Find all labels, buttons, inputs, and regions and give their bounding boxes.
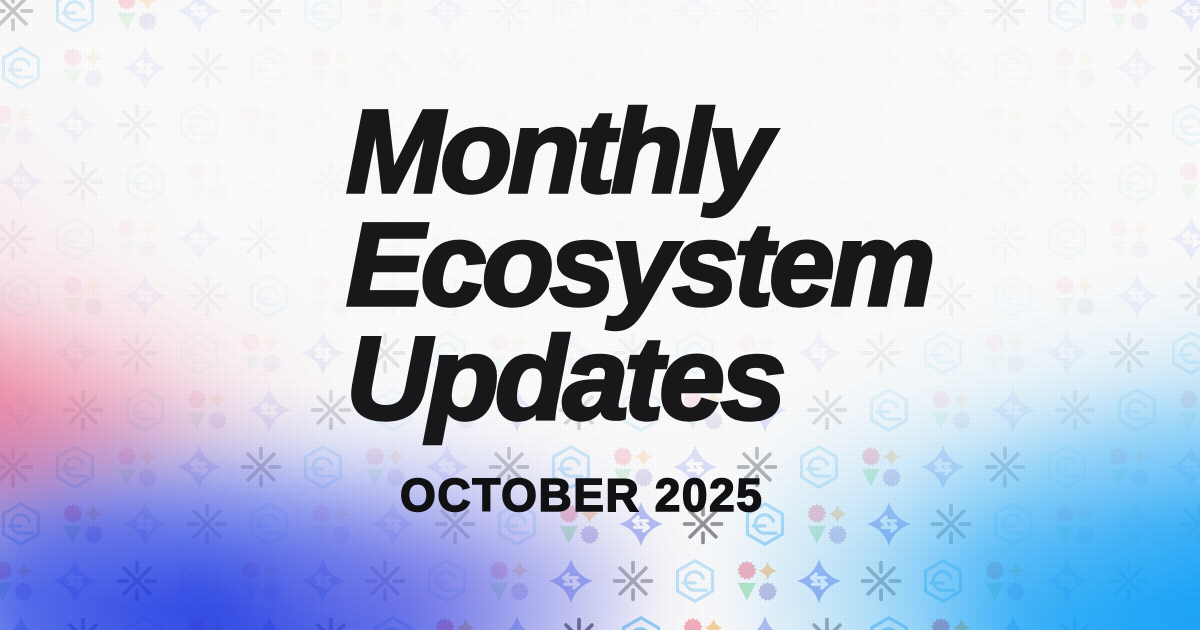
swap-diamond-icon	[494, 615, 540, 630]
swap-diamond-icon	[990, 615, 1036, 630]
swap-diamond-icon	[796, 558, 842, 604]
shape-cluster-icon	[928, 615, 974, 630]
asterisk-icon	[734, 0, 780, 34]
asterisk-icon	[486, 0, 532, 34]
hexagon-swirl-icon	[52, 0, 98, 34]
asterisk-icon	[238, 216, 284, 262]
hexagon-swirl-icon	[1044, 444, 1090, 490]
shape-cluster-icon	[1106, 0, 1152, 34]
hexagon-swirl-icon	[122, 159, 168, 205]
swap-diamond-icon	[424, 0, 470, 34]
swap-diamond-icon	[246, 159, 292, 205]
asterisk-icon	[804, 615, 850, 630]
swap-diamond-icon	[122, 273, 168, 319]
asterisk-icon	[0, 444, 36, 490]
shape-cluster-icon	[680, 615, 726, 630]
hexagon-swirl-icon	[1044, 0, 1090, 34]
swap-diamond-icon	[176, 0, 222, 34]
social-card: Monthly Ecosystem Updates OCTOBER 2025	[0, 0, 1200, 630]
hexagon-swirl-icon	[122, 615, 168, 630]
asterisk-icon	[982, 0, 1028, 34]
swap-diamond-icon	[672, 0, 718, 34]
shape-cluster-icon	[238, 330, 284, 376]
asterisk-icon	[1176, 45, 1200, 91]
swap-diamond-icon	[52, 102, 98, 148]
swap-diamond-icon	[920, 444, 966, 490]
hexagon-swirl-icon	[300, 444, 346, 490]
shape-cluster-icon	[1176, 159, 1200, 205]
asterisk-icon	[308, 615, 354, 630]
swap-diamond-icon	[300, 558, 346, 604]
hexagon-swirl-icon	[122, 387, 168, 433]
asterisk-icon	[60, 159, 106, 205]
swap-diamond-icon	[548, 558, 594, 604]
asterisk-icon	[0, 0, 36, 34]
swap-diamond-icon	[1044, 558, 1090, 604]
subtitle-date: OCTOBER 2025	[400, 468, 763, 522]
hexagon-swirl-icon	[494, 45, 540, 91]
swap-diamond-icon	[1168, 216, 1200, 262]
shape-cluster-icon	[0, 102, 36, 148]
shape-cluster-icon	[114, 216, 160, 262]
hexagon-swirl-icon	[990, 45, 1036, 91]
shape-cluster-icon	[486, 558, 532, 604]
asterisk-icon	[610, 558, 656, 604]
asterisk-icon	[928, 501, 974, 547]
hexagon-swirl-icon	[0, 45, 44, 91]
shape-cluster-icon	[556, 45, 602, 91]
hexagon-swirl-icon	[300, 216, 346, 262]
swap-diamond-icon	[370, 45, 416, 91]
page-title: Monthly Ecosystem Updates	[346, 96, 1166, 436]
asterisk-icon	[238, 444, 284, 490]
asterisk-icon	[1106, 558, 1152, 604]
asterisk-icon	[1176, 501, 1200, 547]
hexagon-swirl-icon	[370, 615, 416, 630]
shape-cluster-icon	[1106, 444, 1152, 490]
shape-cluster-icon	[184, 159, 230, 205]
asterisk-icon	[60, 615, 106, 630]
shape-cluster-icon	[1176, 387, 1200, 433]
hexagon-swirl-icon	[1168, 102, 1200, 148]
shape-cluster-icon	[858, 444, 904, 490]
shape-cluster-icon	[858, 0, 904, 34]
shape-cluster-icon	[114, 0, 160, 34]
shape-cluster-icon	[362, 0, 408, 34]
asterisk-icon	[184, 501, 230, 547]
hexagon-swirl-icon	[990, 501, 1036, 547]
hexagon-swirl-icon	[742, 45, 788, 91]
hexagon-swirl-icon	[1168, 558, 1200, 604]
swap-diamond-icon	[0, 387, 44, 433]
shape-cluster-icon	[804, 45, 850, 91]
shape-cluster-icon	[982, 558, 1028, 604]
shape-cluster-icon	[184, 615, 230, 630]
asterisk-icon	[928, 45, 974, 91]
shape-cluster-icon	[0, 558, 36, 604]
swap-diamond-icon	[920, 0, 966, 34]
asterisk-icon	[556, 615, 602, 630]
hexagon-swirl-icon	[796, 444, 842, 490]
hexagon-swirl-icon	[0, 501, 44, 547]
shape-cluster-icon	[60, 501, 106, 547]
hexagon-swirl-icon	[52, 216, 98, 262]
asterisk-icon	[114, 102, 160, 148]
hexagon-swirl-icon	[246, 45, 292, 91]
swap-diamond-icon	[176, 444, 222, 490]
swap-diamond-icon	[742, 615, 788, 630]
hexagon-swirl-icon	[176, 558, 222, 604]
swap-diamond-icon	[0, 615, 44, 630]
swap-diamond-icon	[52, 558, 98, 604]
hexagon-swirl-icon	[246, 273, 292, 319]
hexagon-swirl-icon	[246, 501, 292, 547]
asterisk-icon	[1176, 273, 1200, 319]
hexagon-swirl-icon	[1114, 615, 1160, 630]
swap-diamond-icon	[122, 45, 168, 91]
hexagon-swirl-icon	[176, 102, 222, 148]
shape-cluster-icon	[1052, 501, 1098, 547]
asterisk-icon	[680, 45, 726, 91]
asterisk-icon	[60, 387, 106, 433]
swap-diamond-icon	[176, 216, 222, 262]
swap-diamond-icon	[618, 45, 664, 91]
asterisk-icon	[362, 558, 408, 604]
shape-cluster-icon	[60, 45, 106, 91]
shape-cluster-icon	[804, 501, 850, 547]
asterisk-icon	[114, 558, 160, 604]
swap-diamond-icon	[300, 102, 346, 148]
shape-cluster-icon	[610, 0, 656, 34]
hexagon-swirl-icon	[618, 615, 664, 630]
swap-diamond-icon	[1168, 0, 1200, 34]
swap-diamond-icon	[246, 387, 292, 433]
asterisk-icon	[858, 558, 904, 604]
swap-diamond-icon	[0, 159, 44, 205]
swap-diamond-icon	[1114, 45, 1160, 91]
swap-diamond-icon	[52, 330, 98, 376]
hexagon-swirl-icon	[672, 558, 718, 604]
hexagon-swirl-icon	[300, 0, 346, 34]
hexagon-swirl-icon	[548, 0, 594, 34]
asterisk-icon	[982, 444, 1028, 490]
hexagon-swirl-icon	[424, 558, 470, 604]
swap-diamond-icon	[300, 330, 346, 376]
asterisk-icon	[238, 0, 284, 34]
headline-block: Monthly Ecosystem Updates	[346, 96, 1166, 436]
shape-cluster-icon	[60, 273, 106, 319]
shape-cluster-icon	[238, 558, 284, 604]
asterisk-icon	[0, 216, 36, 262]
swap-diamond-icon	[866, 45, 912, 91]
shape-cluster-icon	[1052, 45, 1098, 91]
shape-cluster-icon	[1176, 615, 1200, 630]
hexagon-swirl-icon	[52, 444, 98, 490]
shape-cluster-icon	[308, 45, 354, 91]
shape-cluster-icon	[114, 444, 160, 490]
asterisk-icon	[114, 330, 160, 376]
swap-diamond-icon	[1168, 444, 1200, 490]
hexagon-swirl-icon	[1168, 330, 1200, 376]
swap-diamond-icon	[866, 501, 912, 547]
swap-diamond-icon	[1114, 501, 1160, 547]
hexagon-swirl-icon	[0, 273, 44, 319]
shape-cluster-icon	[184, 387, 230, 433]
asterisk-icon	[184, 45, 230, 91]
asterisk-icon	[184, 273, 230, 319]
hexagon-swirl-icon	[176, 330, 222, 376]
shape-cluster-icon	[432, 615, 478, 630]
swap-diamond-icon	[246, 615, 292, 630]
hexagon-swirl-icon	[920, 558, 966, 604]
hexagon-swirl-icon	[796, 0, 842, 34]
shape-cluster-icon	[734, 558, 780, 604]
swap-diamond-icon	[122, 501, 168, 547]
asterisk-icon	[1052, 615, 1098, 630]
shape-cluster-icon	[238, 102, 284, 148]
asterisk-icon	[432, 45, 478, 91]
shape-cluster-icon	[308, 501, 354, 547]
hexagon-swirl-icon	[866, 615, 912, 630]
shape-cluster-icon	[0, 330, 36, 376]
